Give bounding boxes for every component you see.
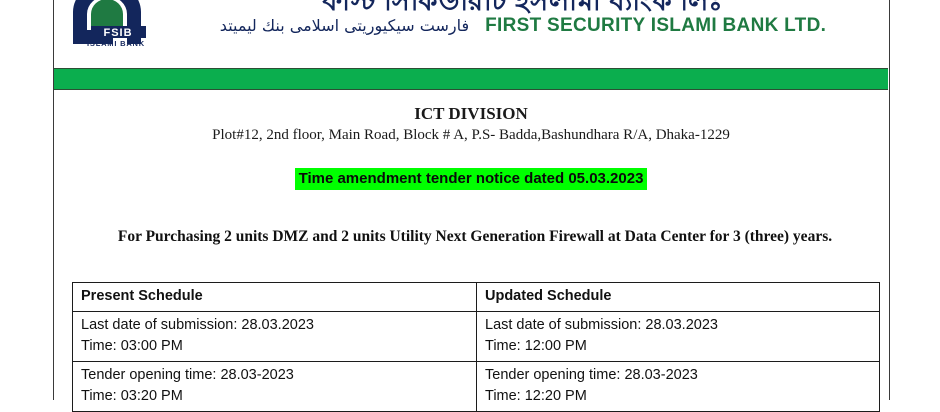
bank-name-english: FIRST SECURITY ISLAMI BANK LTD. [485,15,826,37]
svg-text:ISLAMI BANK: ISLAMI BANK [87,39,145,48]
table-row: Last date of submission: 28.03.2023 Time… [73,312,880,362]
cell-updated-submission: Last date of submission: 28.03.2023 Time… [477,312,880,362]
present-opening-date: Tender opening time: 28.03-2023 [81,365,468,386]
schedule-table: Present Schedule Updated Schedule Last d… [72,282,880,412]
present-submission-date: Last date of submission: 28.03.2023 [81,315,468,336]
office-address: Plot#12, 2nd floor, Main Road, Block # A… [55,125,887,145]
bank-name-block: ফার্স্ট সিকিউরিটি ইসলামী ব্যাংক লিঃ فارس… [163,0,883,54]
fsib-bank-logo-icon: FSIB ISLAMI BANK [67,0,159,48]
svg-text:FSIB: FSIB [103,27,132,39]
column-header-updated-schedule: Updated Schedule [477,283,880,312]
notice-headline: Time amendment tender notice dated 05.03… [295,168,648,190]
table-row: Tender opening time: 28.03-2023 Time: 03… [73,362,880,412]
bank-name-bangla: ফার্স্ট সিকিউরিটি ইসলামী ব্যাংক লিঃ [163,0,883,16]
division-title: ICT DIVISION [55,104,887,124]
bank-name-second-line: فارست سيكيوريتى اسلامى بنك ليميتد FIRST … [163,15,883,37]
column-header-present-schedule: Present Schedule [73,283,477,312]
bank-name-arabic: فارست سيكيوريتى اسلامى بنك ليميتد [220,15,469,37]
document-page: FSIB ISLAMI BANK ফার্স্ট সিকিউরিটি ইসলাম… [0,0,940,400]
notice-headline-row: Time amendment tender notice dated 05.03… [55,168,887,190]
cell-present-submission: Last date of submission: 28.03.2023 Time… [73,312,477,362]
present-opening-time: Time: 03:20 PM [81,386,468,407]
letterhead: FSIB ISLAMI BANK ফার্স্ট সিকিউরিটি ইসলাম… [55,0,887,66]
table-header-row: Present Schedule Updated Schedule [73,283,880,312]
cell-present-opening: Tender opening time: 28.03-2023 Time: 03… [73,362,477,412]
notice-body: ICT DIVISION Plot#12, 2nd floor, Main Ro… [55,92,887,400]
updated-opening-date: Tender opening time: 28.03-2023 [485,365,871,386]
cell-updated-opening: Tender opening time: 28.03-2023 Time: 12… [477,362,880,412]
green-rule-bar [54,68,888,90]
tender-purpose: For Purchasing 2 units DMZ and 2 units U… [63,227,887,247]
updated-submission-time: Time: 12:00 PM [485,336,871,357]
updated-opening-time: Time: 12:20 PM [485,386,871,407]
updated-submission-date: Last date of submission: 28.03.2023 [485,315,871,336]
present-submission-time: Time: 03:00 PM [81,336,468,357]
